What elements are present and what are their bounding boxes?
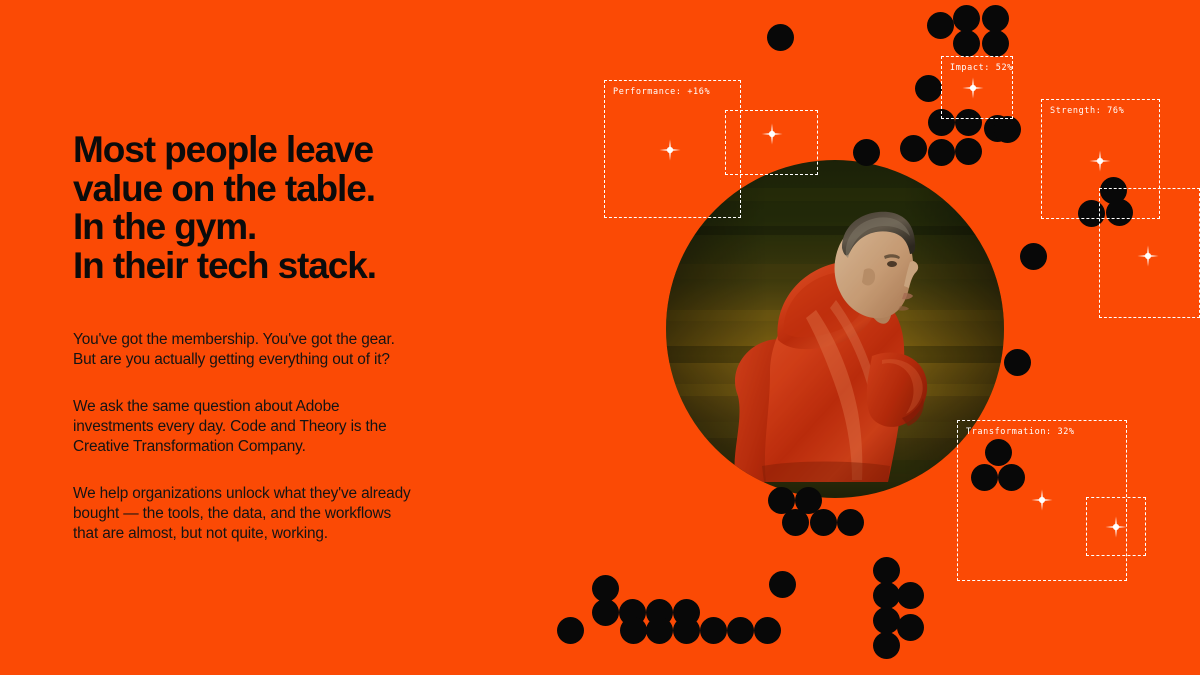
data-dot [700,617,727,644]
data-dot [754,617,781,644]
data-dot [873,607,900,634]
sparkle-icon-transformation-sub [1105,516,1127,538]
data-dot [673,617,700,644]
data-dot [897,582,924,609]
data-dot [557,617,584,644]
data-dot [927,12,954,39]
data-dot [982,30,1009,57]
slide-canvas: Most people leave value on the table. In… [0,0,1200,675]
data-dot [900,135,927,162]
data-dot [767,24,794,51]
data-dot [1020,243,1047,270]
data-dot [782,509,809,536]
data-dot [982,5,1009,32]
annotation-label-transformation: Transformation: 32% [966,427,1075,437]
sparkle-icon-performance-sub [761,123,783,145]
annotation-label-performance: Performance: +16% [613,87,710,97]
data-dot [1004,349,1031,376]
sparkle-icon-transformation [1031,489,1053,511]
sparkle-icon-strength-sub [1137,245,1159,267]
sparkle-icon-impact [962,77,984,99]
data-dot [873,632,900,659]
data-dot [646,617,673,644]
data-dot [592,599,619,626]
data-dot [994,116,1021,143]
data-dot [810,509,837,536]
data-dot [953,30,980,57]
data-dot [953,5,980,32]
data-dot [897,614,924,641]
data-dot [592,575,619,602]
sparkle-icon-performance [659,139,681,161]
annotation-label-impact: Impact: 52% [950,63,1013,73]
data-dot [727,617,754,644]
data-dot [873,582,900,609]
data-dot [928,139,955,166]
data-dot [955,138,982,165]
data-dot [837,509,864,536]
sparkle-icon-strength [1089,150,1111,172]
data-dot [915,75,942,102]
data-dot [769,571,796,598]
data-dot [853,139,880,166]
data-dot [620,617,647,644]
data-dot [873,557,900,584]
annotation-label-strength: Strength: 76% [1050,106,1124,116]
visualization-field: Performance: +16%Impact: 52%Strength: 76… [0,0,1200,675]
